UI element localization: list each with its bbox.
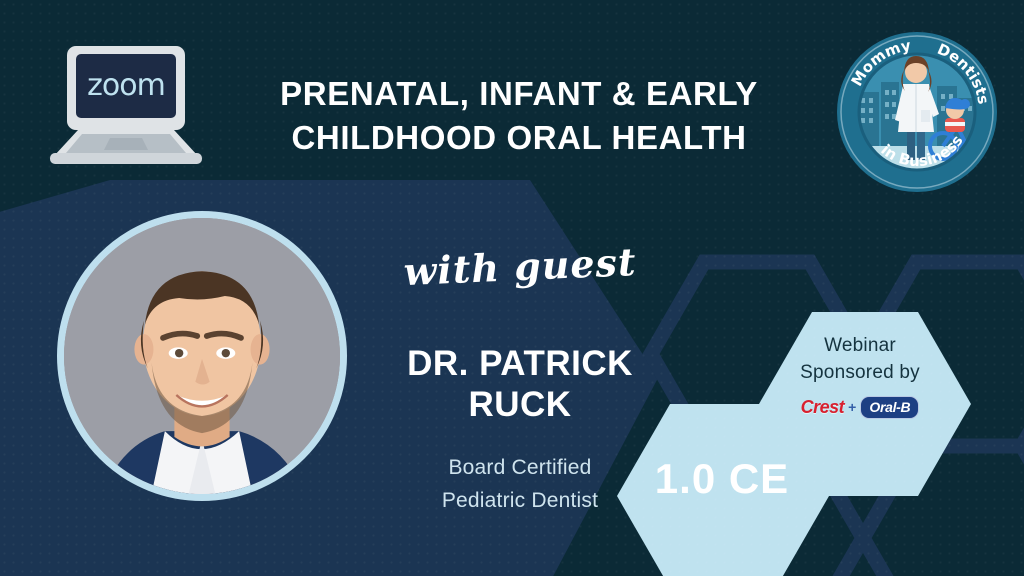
mommy-dentists-in-business-logo: Mommy Dentists in Business (833, 28, 1001, 196)
title-line-1: PRENATAL, INFANT & EARLY (238, 72, 800, 116)
sponsor-line-1: Webinar (770, 333, 950, 360)
speaker-name-line-2: RUCK (352, 385, 688, 426)
sponsor-line-2: Sponsored by (770, 360, 950, 387)
sponsor-block: Webinar Sponsored by Crest + Oral-B (770, 333, 950, 419)
webinar-title: PRENATAL, INFANT & EARLY CHILDHOOD ORAL … (238, 72, 800, 159)
webinar-promo-poster: zoom PRENATAL, INFANT & EARLY CHILDHOOD … (0, 0, 1024, 576)
svg-text:zoom: zoom (87, 68, 165, 103)
zoom-laptop-icon: zoom (38, 38, 213, 178)
speaker-name: DR. PATRICK RUCK (352, 344, 688, 425)
speaker-name-line-1: DR. PATRICK (352, 344, 688, 385)
crest-logo: Crest (801, 397, 845, 418)
title-line-2: CHILDHOOD ORAL HEALTH (238, 116, 800, 160)
brand-separator-icon: + (848, 399, 856, 415)
speaker-headshot (57, 211, 347, 501)
oral-b-logo: Oral-B (860, 396, 919, 419)
sponsor-brand-logos: Crest + Oral-B (770, 396, 950, 419)
ce-credit-value: 1.0 CE (634, 455, 810, 503)
